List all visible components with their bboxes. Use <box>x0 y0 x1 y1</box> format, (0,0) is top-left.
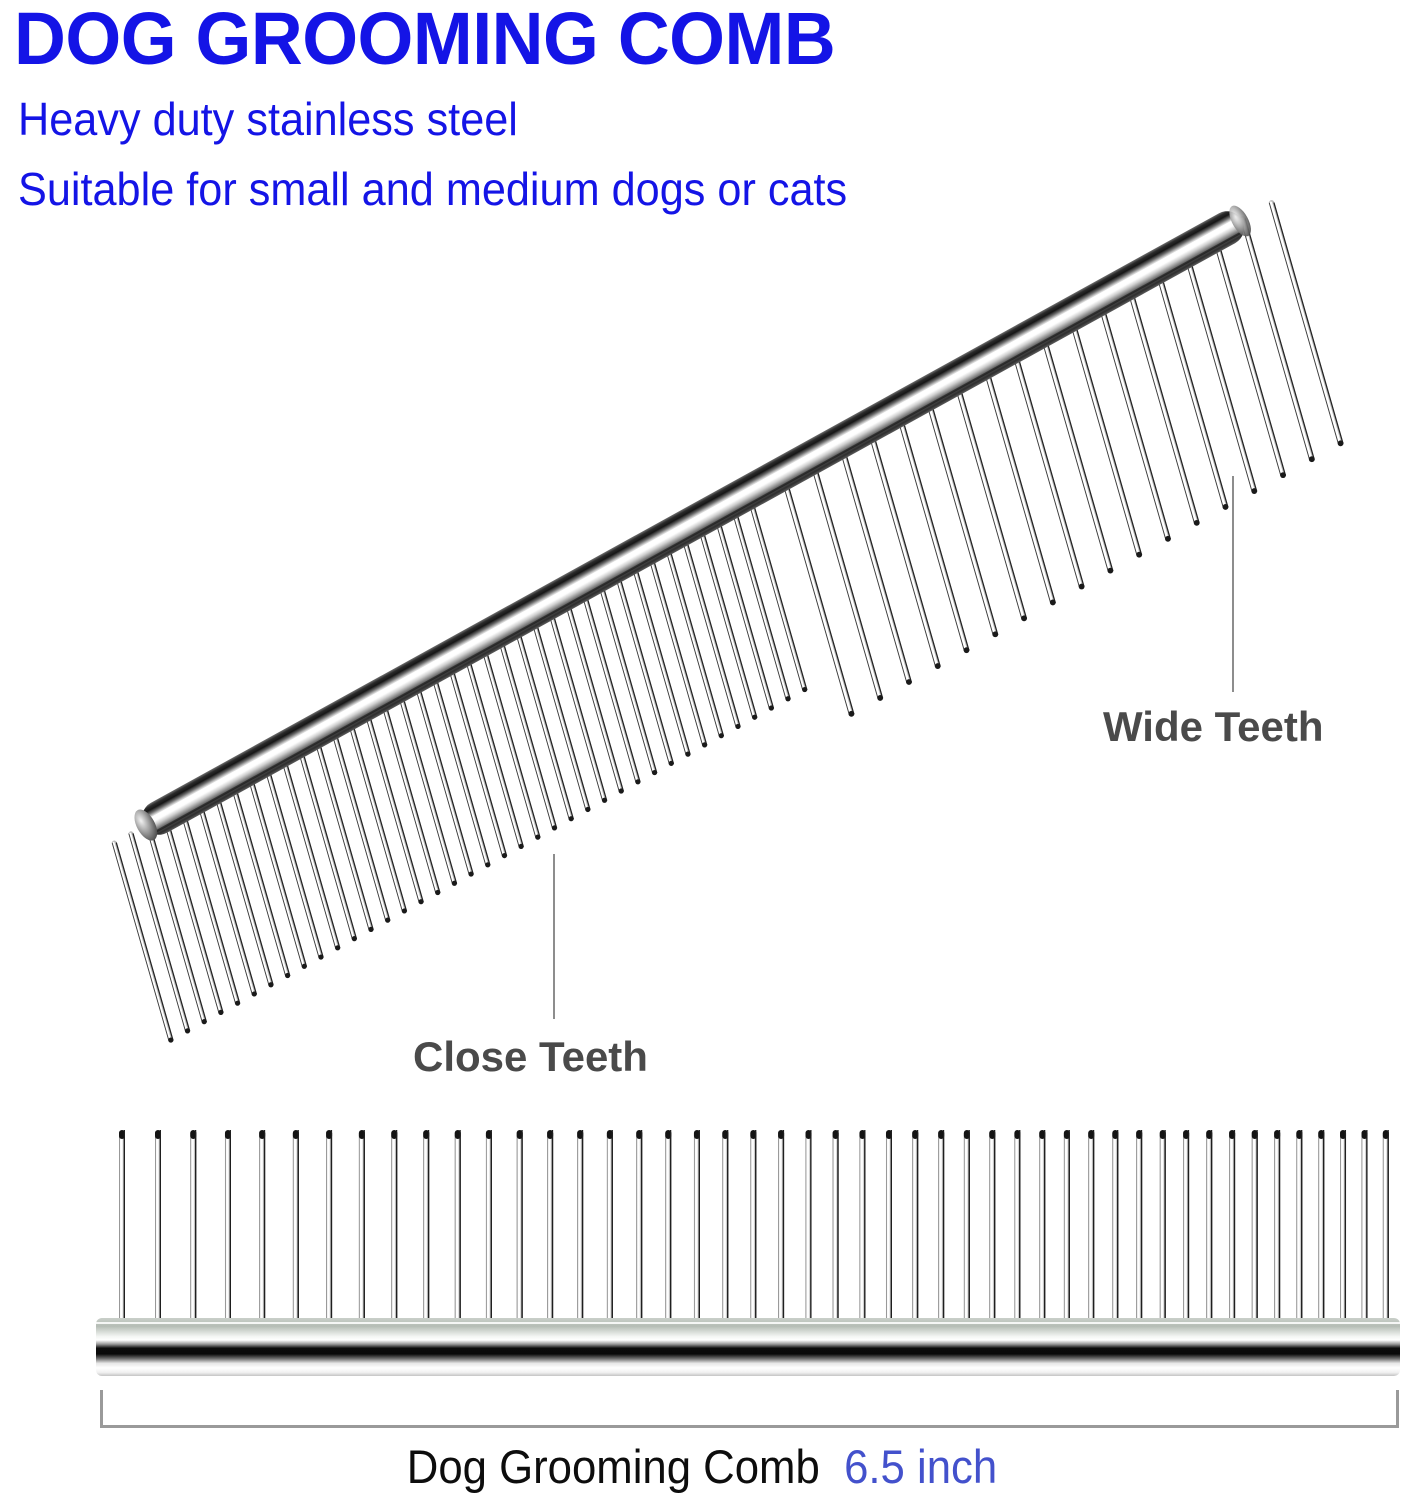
caption-product-name: Dog Grooming Comb <box>407 1440 820 1493</box>
dimension-tick-right <box>1396 1390 1399 1428</box>
dimension-tick-left <box>100 1390 103 1428</box>
comb-teeth-side <box>113 1130 1395 1333</box>
comb-spine-angled <box>130 202 1256 844</box>
comb-bar-side <box>96 1318 1400 1376</box>
comb-angled-illustration <box>0 0 1404 1100</box>
product-infographic: DOG GROOMING COMB Heavy duty stainless s… <box>0 0 1404 1500</box>
callout-wide-teeth: Wide Teeth <box>1103 703 1324 751</box>
comb-teeth-angled <box>112 203 1343 1043</box>
leader-line-close-teeth <box>553 854 555 1019</box>
comb-side-illustration <box>0 1100 1404 1400</box>
caption-product-size: 6.5 inch <box>844 1440 997 1493</box>
dimension-caption: Dog Grooming Comb 6.5 inch <box>49 1443 1355 1490</box>
callout-close-teeth: Close Teeth <box>413 1033 648 1081</box>
leader-line-wide-teeth <box>1232 476 1234 692</box>
dimension-line <box>100 1425 1399 1428</box>
